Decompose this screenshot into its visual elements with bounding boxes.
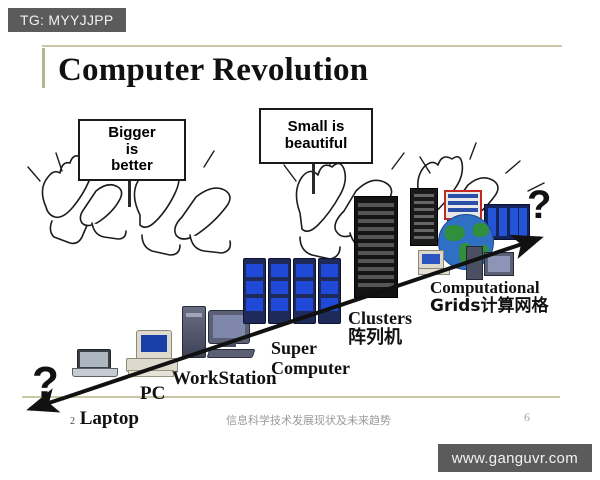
workstation-icon: [182, 304, 252, 366]
sign-bigger-text: Bigger is better: [108, 125, 156, 175]
sign-bigger-is-better: Bigger is better: [78, 119, 186, 181]
sign-post-small: [312, 160, 315, 194]
stage-label-workstation: WorkStation: [172, 368, 277, 389]
slide-canvas: Computer Revolution: [0, 0, 600, 480]
sign-small-text: Small is beautiful: [285, 119, 348, 153]
grids-line-2: Grids计算网格: [430, 297, 548, 316]
clusters-label-en: Clusters: [348, 308, 412, 328]
grid-server-tower-icon: [410, 188, 438, 246]
title-left-accent: [42, 48, 45, 88]
tg-watermark-badge: TG: MYYJJPP: [8, 8, 126, 32]
clusters-label-cn: 阵列机: [348, 328, 412, 348]
title-top-rule: [42, 45, 562, 47]
sign-small-is-beautiful: Small is beautiful: [259, 108, 373, 164]
footer-rule: [22, 396, 560, 398]
stage-label-supercomputer: Super Computer: [271, 338, 350, 378]
grid-desktop-icon: [418, 250, 450, 274]
footer-note: 信息科学技术发展现状及未来趋势: [226, 412, 391, 428]
page-number: 6: [524, 410, 530, 425]
desktop-pc-icon: [126, 330, 178, 376]
server-rack-blue-icon: [243, 258, 339, 326]
stage-label-clusters: Clusters 阵列机: [348, 308, 412, 348]
super-line-1: Super: [271, 338, 350, 358]
grid-workstation-icon: [466, 246, 512, 280]
page-title: Computer Revolution: [58, 52, 368, 89]
super-line-2: Computer: [271, 358, 350, 378]
grids-line-1: Computational: [430, 278, 548, 297]
laptop-icon: [72, 349, 116, 379]
laptop-index: 2: [70, 416, 75, 427]
stage-label-pc: PC: [140, 383, 165, 404]
sign-post-bigger: [128, 177, 131, 207]
question-mark-left: ?: [32, 358, 59, 408]
server-rack-dark-icon: [354, 196, 398, 298]
stage-label-laptop: 2 Laptop: [70, 408, 139, 429]
stage-label-grids: Computational Grids计算网格: [430, 278, 548, 316]
laptop-label: Laptop: [80, 408, 139, 429]
question-mark-right: ?: [527, 183, 551, 228]
site-watermark-badge: www.ganguvr.com: [438, 444, 592, 472]
computational-grid-icon: [408, 188, 528, 284]
